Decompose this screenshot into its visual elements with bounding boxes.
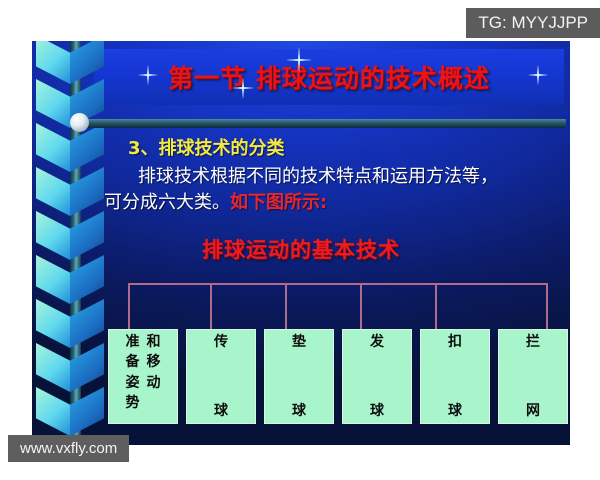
node-char: 发 <box>370 335 384 350</box>
node-column-left: 准 备 姿 势 <box>126 335 140 419</box>
node-char: 拦 <box>526 335 540 350</box>
node-char: 准 <box>126 335 140 350</box>
node-column: 拦 网 <box>526 335 540 419</box>
telegram-watermark: TG: MYYJJPP <box>466 8 600 38</box>
connector-drop <box>128 283 130 331</box>
node-char: 垫 <box>292 335 306 350</box>
connector-drop <box>285 283 287 331</box>
divider-ball-icon <box>70 113 89 132</box>
ribbon-segment <box>36 343 104 392</box>
node-column-right: 和 移 动 <box>147 335 161 419</box>
node-passing[interactable]: 垫 球 <box>264 329 334 424</box>
node-spiking[interactable]: 扣 球 <box>420 329 490 424</box>
diagram-connectors <box>128 283 548 331</box>
node-char: 动 <box>147 376 161 391</box>
node-char: 势 <box>126 396 140 411</box>
node-setting[interactable]: 传 球 <box>186 329 256 424</box>
connector-drop <box>546 283 548 331</box>
node-char: 和 <box>147 335 161 350</box>
paragraph-red-note: 如下图所示: <box>230 192 327 213</box>
node-char: 备 <box>126 355 140 370</box>
connector-horizontal <box>128 283 548 285</box>
diagram-title: 排球运动的基本技术 <box>32 234 570 264</box>
page-title: 第一节 排球运动的技术概述 <box>94 49 564 105</box>
ribbon-segment <box>36 299 104 348</box>
node-char: 球 <box>448 404 462 419</box>
node-char: 姿 <box>126 376 140 391</box>
body-text-block: 3、排球技术的分类 排球技术根据不同的技术特点和运用方法等， 可分成六大类。如下… <box>104 137 559 215</box>
connector-drop <box>360 283 362 331</box>
body-paragraph: 排球技术根据不同的技术特点和运用方法等， 可分成六大类。如下图所示: <box>104 164 559 215</box>
divider-bar <box>80 119 566 128</box>
node-column: 发 球 <box>370 335 384 419</box>
ribbon-segment <box>36 387 104 436</box>
website-watermark: www.vxfly.com <box>8 435 129 462</box>
node-blocking[interactable]: 拦 网 <box>498 329 568 424</box>
ribbon-segment <box>36 123 104 172</box>
diagram-nodes: 准 备 姿 势 和 移 动 传 球 垫 球 发 <box>108 329 568 424</box>
slide-canvas: 第一节 排球运动的技术概述 3、排球技术的分类 排球技术根据不同的技术特点和运用… <box>32 41 570 445</box>
connector-drop <box>435 283 437 331</box>
node-column: 扣 球 <box>448 335 462 419</box>
node-char: 移 <box>147 355 161 370</box>
paragraph-line-2: 可分成六大类。 <box>104 192 230 213</box>
connector-drop <box>210 283 212 331</box>
node-column: 垫 球 <box>292 335 306 419</box>
node-char: 球 <box>292 404 306 419</box>
node-serving[interactable]: 发 球 <box>342 329 412 424</box>
node-char: 球 <box>214 404 228 419</box>
ribbon-segment <box>36 167 104 216</box>
node-column: 传 球 <box>214 335 228 419</box>
node-char: 球 <box>370 404 384 419</box>
node-char: 传 <box>214 335 228 350</box>
node-ready-position-and-movement[interactable]: 准 备 姿 势 和 移 动 <box>108 329 178 424</box>
section-heading: 3、排球技术的分类 <box>104 137 559 161</box>
node-char: 扣 <box>448 335 462 350</box>
paragraph-line-1: 排球技术根据不同的技术特点和运用方法等， <box>138 166 498 187</box>
node-char: 网 <box>526 404 540 419</box>
